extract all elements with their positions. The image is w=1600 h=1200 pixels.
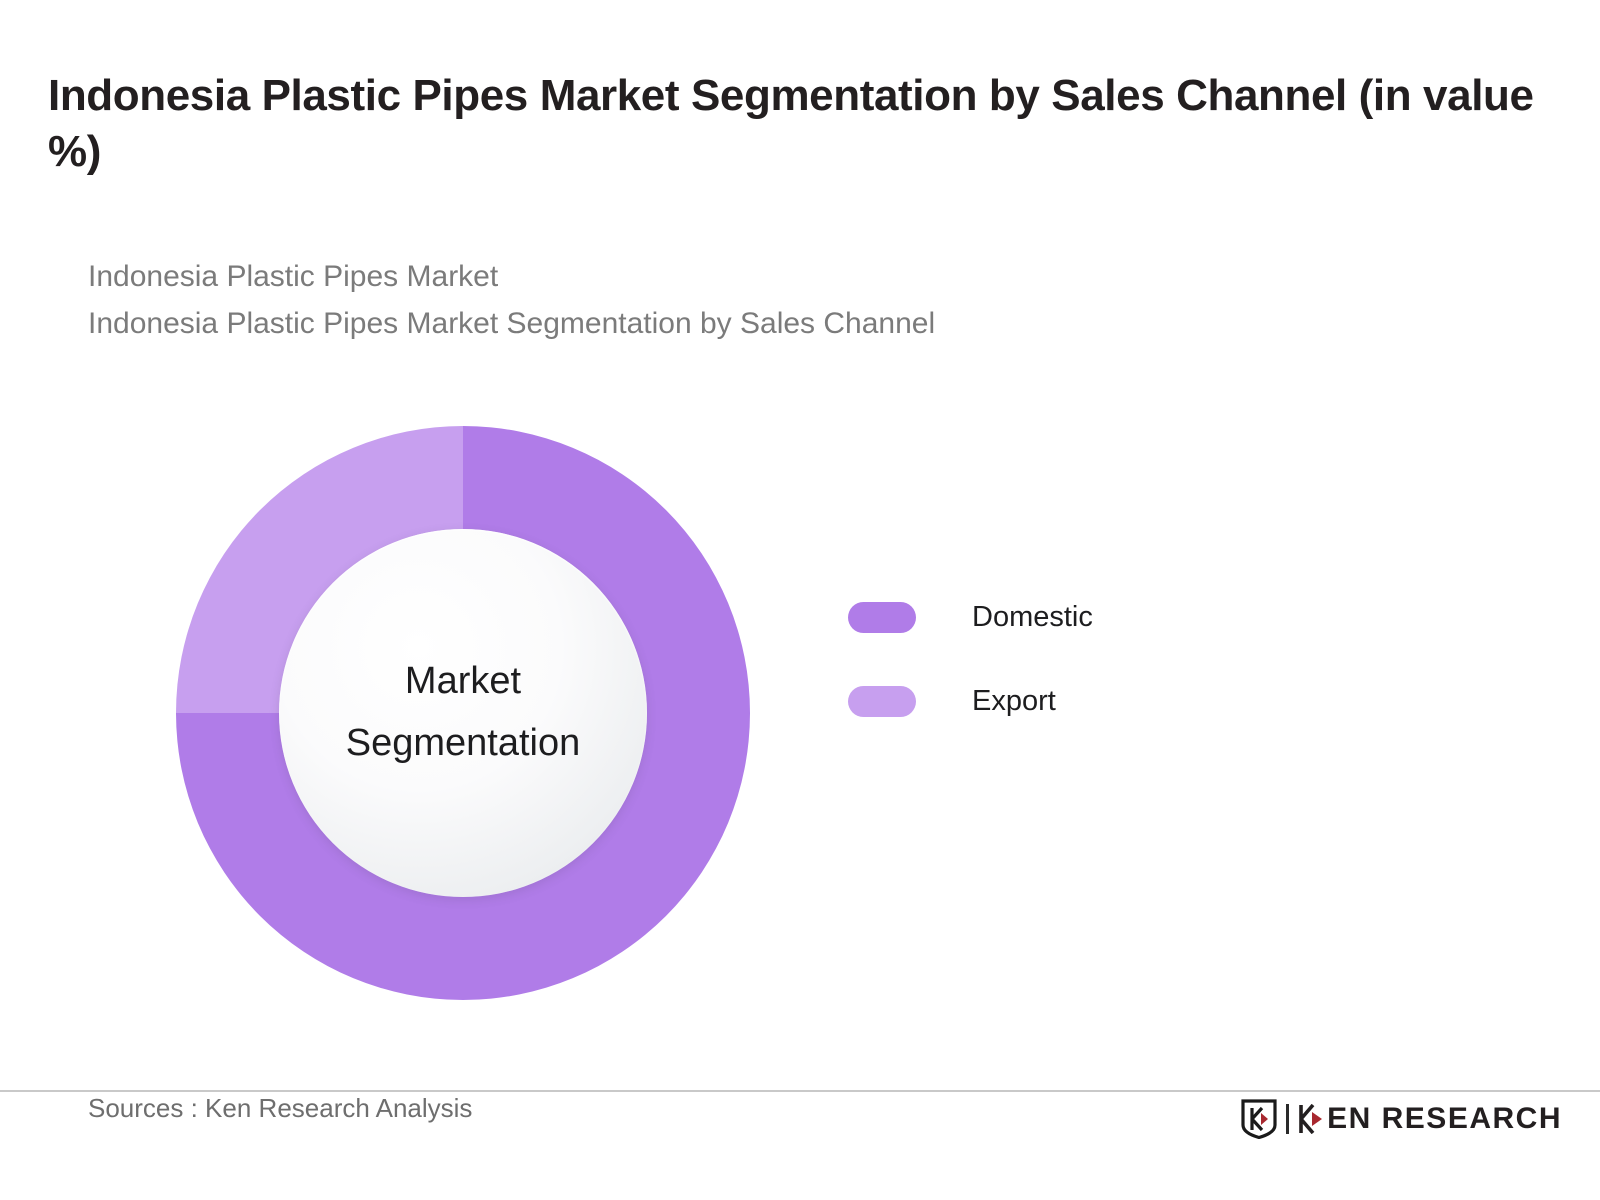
legend-label-export: Export [972,685,1056,718]
legend-swatch-domestic [848,602,916,633]
center-label-line-1: Market [346,651,581,713]
logo-divider [1286,1104,1289,1134]
subtitle-line-2: Indonesia Plastic Pipes Market Segmentat… [88,301,1288,348]
donut-center-label: Market Segmentation [322,651,605,774]
logo-k-icon [1299,1104,1325,1134]
logo-wordmark: EN RESEARCH [1299,1104,1562,1134]
legend-swatch-export [848,686,916,717]
legend-label-domestic: Domestic [972,601,1093,634]
ken-research-shield-icon [1241,1099,1277,1139]
legend-item-export[interactable]: Export [848,672,1268,730]
donut-center-hole: Market Segmentation [279,529,647,897]
legend-item-domestic[interactable]: Domestic [848,588,1268,646]
chart-legend: Domestic Export [848,588,1268,756]
ken-research-logo[interactable]: EN RESEARCH [1241,1098,1562,1140]
page-title: Indonesia Plastic Pipes Market Segmentat… [48,68,1548,181]
logo-text-rest: EN RESEARCH [1327,1104,1562,1134]
footer-divider [0,1090,1600,1092]
slide-canvas: Indonesia Plastic Pipes Market Segmentat… [0,0,1600,1200]
source-note: Sources : Ken Research Analysis [88,1093,472,1124]
center-label-line-2: Segmentation [346,713,581,775]
subtitle-block: Indonesia Plastic Pipes Market Indonesia… [88,254,1288,348]
subtitle-line-1: Indonesia Plastic Pipes Market [88,254,1288,301]
donut-chart: Market Segmentation [175,425,751,1001]
chart-area: Market Segmentation Domestic Export [0,400,1600,1060]
